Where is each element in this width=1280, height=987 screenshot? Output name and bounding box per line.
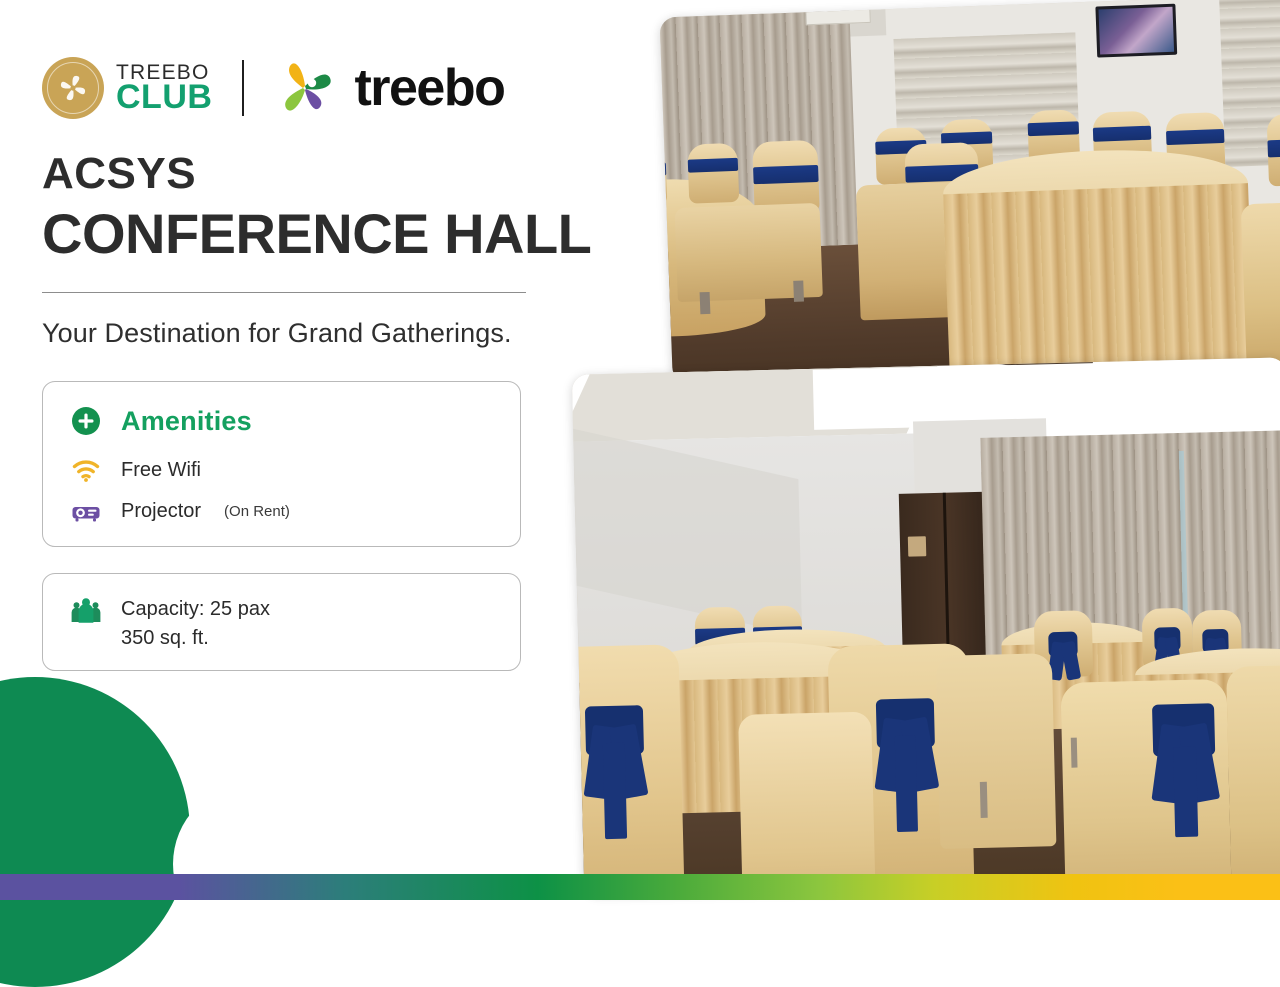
amenities-card: Amenities Free Wifi [42, 381, 521, 547]
framed-artwork [1096, 3, 1178, 57]
amenity-label-projector: Projector [121, 500, 201, 523]
wifi-icon [69, 454, 103, 488]
bottom-gradient-bar [0, 874, 1280, 900]
logo-row: TREEBO CLUB treebo [42, 50, 504, 126]
pinwheel-glyph [53, 68, 93, 108]
chair-sash [1268, 138, 1280, 157]
table-main-skirt [943, 183, 1255, 383]
amenities-title: Amenities [121, 406, 252, 437]
left-content-panel: TREEBO CLUB treebo ACSYS CONFERENCE HALL… [0, 0, 660, 900]
chair-bow-tail [603, 742, 627, 839]
chair [687, 143, 740, 204]
plus-circle-icon [69, 404, 103, 438]
treebo-wordmark: treebo [354, 62, 504, 114]
amenity-item-wifi: Free Wifi [69, 450, 494, 491]
capacity-text: Capacity: 25 pax 350 sq. ft. [121, 594, 270, 653]
chair-bow [1154, 627, 1181, 652]
wardrobe-label [908, 536, 927, 557]
chair-bow-tail [1173, 746, 1198, 837]
chair-leg [980, 782, 988, 818]
chair-bow-tail [895, 735, 919, 832]
logo-divider [242, 60, 244, 116]
capacity-line-pax: Capacity: 25 pax [121, 595, 270, 624]
capacity-line-area: 350 sq. ft. [121, 624, 270, 653]
ac-vent [805, 2, 871, 26]
treebo-logo: treebo [270, 55, 504, 121]
chair-far-right [1226, 664, 1280, 895]
title-block: ACSYS CONFERENCE HALL Your Destination f… [42, 152, 632, 349]
chair-mid-right [936, 653, 1057, 849]
ceiling-drop [813, 357, 1280, 429]
chair-sash [1093, 125, 1152, 142]
projector-icon [69, 495, 103, 529]
chair-sash [753, 165, 819, 184]
treebo-club-wordmark: TREEBO CLUB [116, 62, 212, 114]
photo-bottom-scene [572, 357, 1280, 894]
conference-hall-photo-top [660, 0, 1280, 383]
chair-leg [1070, 737, 1077, 767]
page-title-line2: CONFERENCE HALL [42, 203, 632, 265]
page-title-line1: ACSYS [42, 152, 632, 197]
chair-bow [1048, 632, 1078, 658]
chair-sash [1166, 129, 1225, 146]
amenity-item-projector: Projector (On Rent) [69, 491, 494, 532]
chair-leg [793, 280, 804, 302]
chair-front-seat [738, 712, 876, 895]
treebo-pinwheel-badge-icon [42, 57, 104, 119]
treebo-pinwheel-icon [270, 55, 340, 121]
page-subtitle: Your Destination for Grand Gatherings. [42, 318, 632, 349]
photo-top-scene [660, 0, 1280, 383]
title-divider [42, 292, 526, 293]
club-wordmark-line2: CLUB [116, 80, 212, 114]
amenities-header: Amenities [69, 404, 494, 438]
capacity-body: Capacity: 25 pax 350 sq. ft. [69, 594, 494, 653]
chair-sash [1027, 122, 1078, 137]
chair-sash [660, 162, 667, 177]
people-group-icon [69, 594, 103, 628]
capacity-card: Capacity: 25 pax 350 sq. ft. [42, 573, 521, 671]
chair-leg [699, 292, 710, 314]
amenity-label-wifi: Free Wifi [121, 459, 201, 482]
chair-front-right [1241, 200, 1280, 375]
treebo-club-logo: TREEBO CLUB [42, 57, 212, 119]
conference-hall-photo-bottom [572, 357, 1280, 894]
chair-sash [687, 157, 738, 172]
amenity-note-projector: (On Rent) [224, 503, 290, 520]
